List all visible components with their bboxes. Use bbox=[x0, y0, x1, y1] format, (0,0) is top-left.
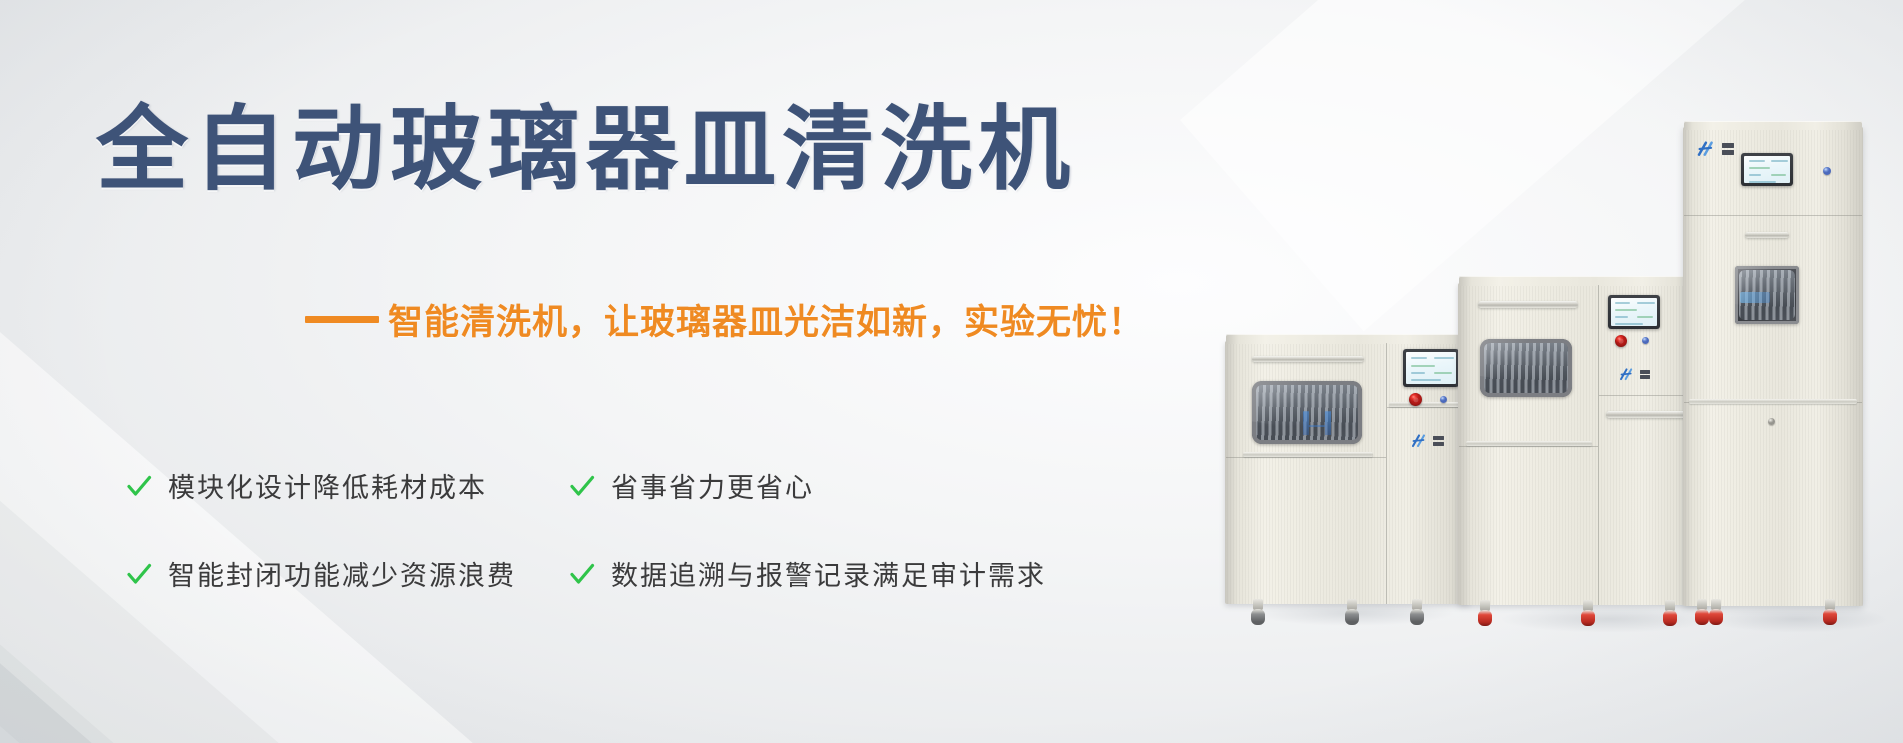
feature-row: 智能封闭功能减少资源浪费 数据追溯与报警记录满足审计需求 bbox=[126, 554, 1076, 593]
washer-body bbox=[1683, 127, 1863, 606]
touchscreen-display[interactable] bbox=[1611, 298, 1657, 326]
panel-seam bbox=[1386, 343, 1387, 604]
chamber-viewing-window bbox=[1252, 381, 1362, 444]
door-handle[interactable] bbox=[1478, 301, 1578, 308]
brand-wordmark bbox=[1640, 370, 1650, 380]
subtitle-text: 智能清洗机，让玻璃器皿光洁如新，实验无忧！ bbox=[388, 294, 1144, 345]
caster-wheel bbox=[1695, 599, 1709, 625]
page-title: 全自动玻璃器皿清洗机 bbox=[96, 104, 1076, 196]
caster-wheel bbox=[1663, 600, 1677, 626]
subtitle-dash-icon bbox=[305, 316, 379, 323]
panel-seam bbox=[1598, 285, 1599, 605]
check-icon bbox=[569, 473, 595, 499]
panel-seam bbox=[1684, 215, 1862, 216]
feature-label: 智能封闭功能减少资源浪费 bbox=[168, 554, 516, 593]
touchscreen-panel[interactable] bbox=[1403, 349, 1459, 387]
feature-item: 数据追溯与报警记录满足审计需求 bbox=[569, 554, 1049, 593]
touchscreen-panel[interactable] bbox=[1741, 153, 1793, 186]
lower-trim bbox=[1243, 452, 1373, 457]
caster-wheel bbox=[1823, 599, 1837, 625]
product-undercounter-washer bbox=[1225, 331, 1470, 604]
brand-wordmark bbox=[1722, 143, 1734, 155]
promo-banner: 全自动玻璃器皿清洗机 智能清洗机，让玻璃器皿光洁如新，实验无忧！ 模块化设计降低… bbox=[0, 0, 1903, 743]
feature-item: 智能封闭功能减少资源浪费 bbox=[126, 554, 569, 593]
feature-item: 模块化设计降低耗材成本 bbox=[126, 466, 569, 505]
feature-label: 数据追溯与报警记录满足审计需求 bbox=[611, 554, 1046, 593]
status-indicator-light bbox=[1823, 167, 1831, 175]
brand-h-logo bbox=[1695, 141, 1734, 157]
brand-h-mark-icon bbox=[1410, 434, 1430, 448]
product-freestanding-washer bbox=[1458, 273, 1708, 605]
check-icon bbox=[126, 473, 152, 499]
product-tall-cabinet-washer bbox=[1683, 119, 1863, 606]
caster-wheel bbox=[1345, 599, 1359, 625]
status-indicator-light bbox=[1642, 337, 1649, 344]
brand-h-mark-icon bbox=[1695, 141, 1719, 157]
panel-seam bbox=[1226, 457, 1386, 458]
check-icon bbox=[569, 561, 595, 587]
feature-label: 模块化设计降低耗材成本 bbox=[168, 466, 487, 505]
washer-top-cap bbox=[1459, 276, 1707, 286]
lower-trim bbox=[1689, 399, 1857, 404]
touchscreen-display[interactable] bbox=[1744, 156, 1790, 183]
panel-seam bbox=[1387, 407, 1469, 408]
brand-h-logo bbox=[1618, 368, 1650, 381]
check-icon bbox=[126, 561, 152, 587]
feature-list: 模块化设计降低耗材成本 省事省力更省心 智能封闭功能减少资源浪费 bbox=[126, 466, 1076, 593]
caster-wheel bbox=[1251, 599, 1265, 625]
touchscreen-display[interactable] bbox=[1406, 352, 1456, 384]
lower-trim bbox=[1466, 441, 1592, 446]
door-handle[interactable] bbox=[1745, 232, 1789, 238]
window-glare bbox=[1735, 266, 1777, 309]
caster-wheel bbox=[1478, 600, 1492, 626]
lower-door-latch[interactable] bbox=[1768, 418, 1775, 425]
brushed-steel-texture bbox=[1683, 127, 1863, 606]
caster-wheel bbox=[1410, 599, 1424, 625]
chamber-viewing-window bbox=[1480, 339, 1572, 397]
door-handle[interactable] bbox=[1252, 356, 1364, 362]
feature-item: 省事省力更省心 bbox=[569, 466, 1049, 505]
emergency-stop-button[interactable] bbox=[1615, 335, 1627, 347]
emergency-stop-button[interactable] bbox=[1409, 393, 1422, 406]
product-photo-group bbox=[1113, 0, 1903, 743]
caster-wheel bbox=[1581, 600, 1595, 626]
copy-block: 全自动玻璃器皿清洗机 智能清洗机，让玻璃器皿光洁如新，实验无忧！ 模块化设计降低… bbox=[0, 0, 1120, 743]
washer-top-cap bbox=[1684, 121, 1862, 130]
status-indicator-light bbox=[1440, 396, 1447, 403]
touchscreen-panel[interactable] bbox=[1608, 295, 1660, 329]
caster-wheel bbox=[1709, 599, 1723, 625]
washer-top-cap bbox=[1226, 334, 1469, 344]
panel-seam bbox=[1459, 446, 1598, 447]
feature-row: 模块化设计降低耗材成本 省事省力更省心 bbox=[126, 466, 1076, 505]
brand-h-logo bbox=[1410, 434, 1444, 448]
chamber-viewing-window bbox=[1735, 266, 1799, 324]
window-glare bbox=[1480, 339, 1539, 384]
subtitle: 智能清洗机，让玻璃器皿光洁如新，实验无忧！ bbox=[305, 294, 1144, 345]
brand-h-mark-icon bbox=[1618, 368, 1637, 381]
brand-wordmark bbox=[1433, 436, 1444, 446]
feature-label: 省事省力更省心 bbox=[611, 466, 814, 505]
lower-trim bbox=[1389, 402, 1465, 407]
